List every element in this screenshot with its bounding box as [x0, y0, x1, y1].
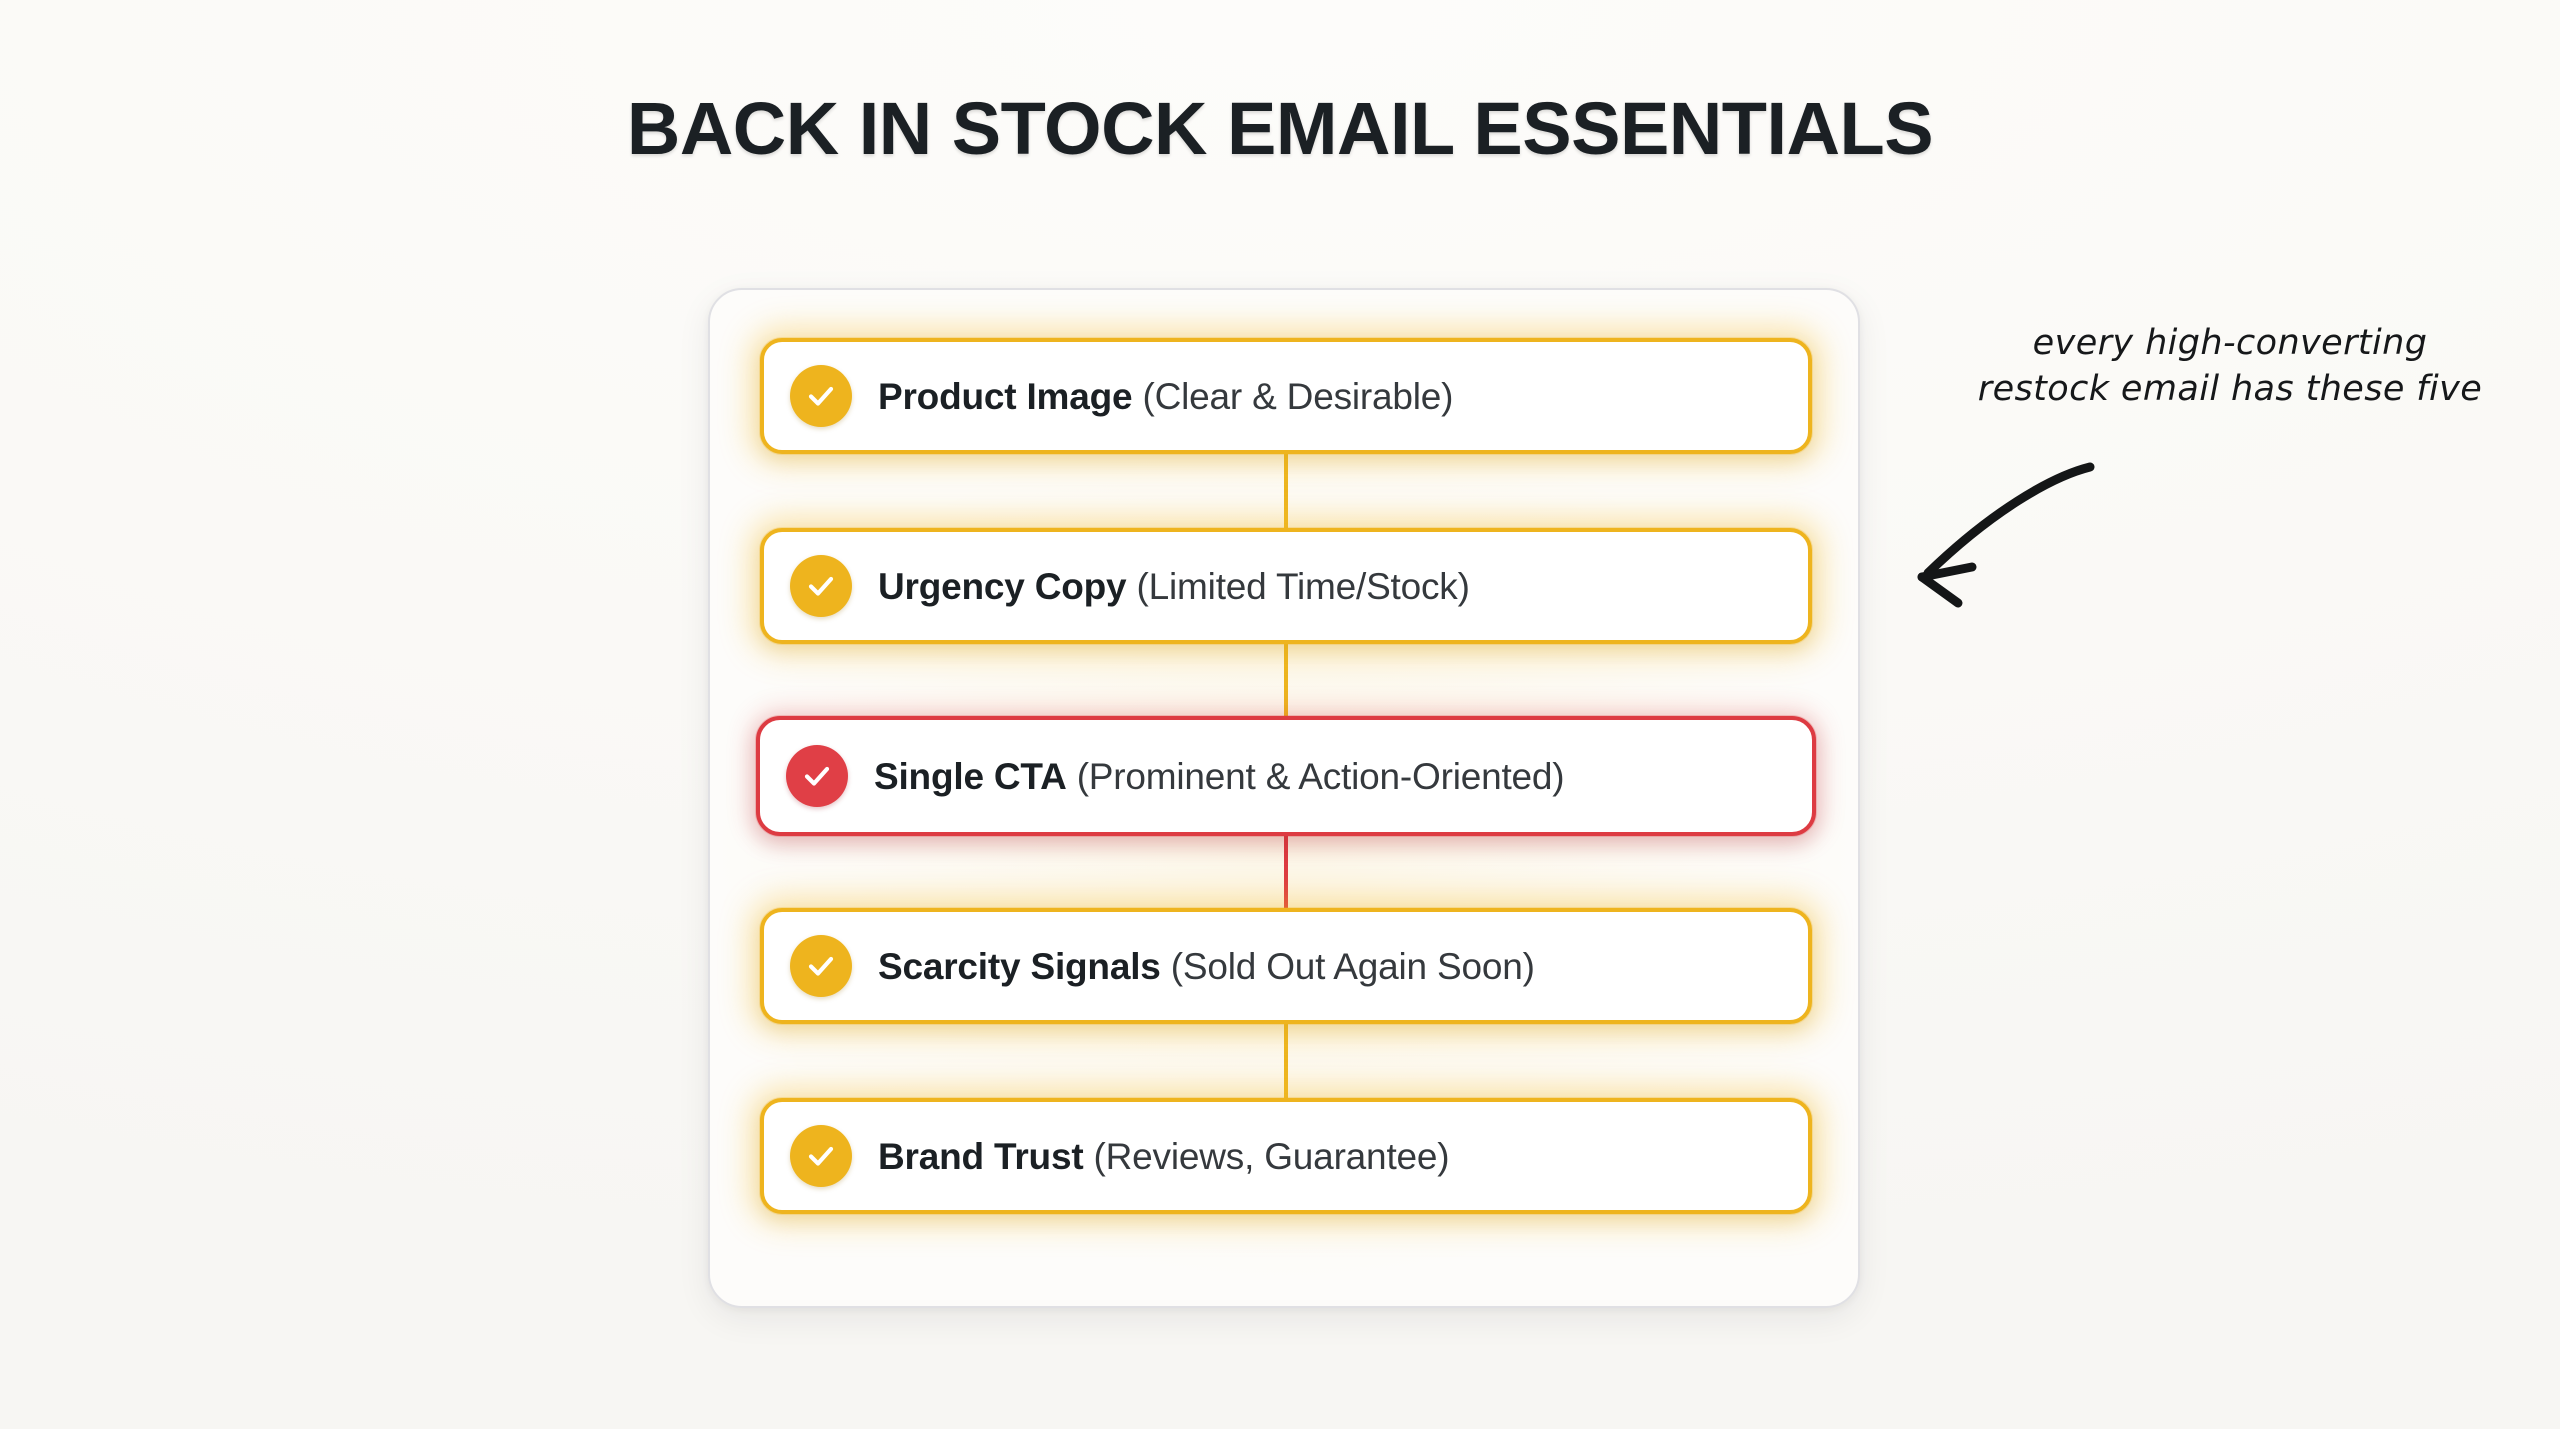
handwritten-annotation: every high-converting restock email has … [1930, 320, 2530, 412]
annotation-line-2: restock email has these five [1930, 366, 2530, 412]
checklist-item-text: Urgency Copy (Limited Time/Stock) [878, 568, 1470, 605]
check-icon [790, 555, 852, 617]
checklist-item-detail: (Sold Out Again Soon) [1171, 946, 1535, 987]
connector-line [1284, 834, 1288, 908]
checklist-item-label: Scarcity Signals [878, 946, 1161, 987]
checklist-item-text: Scarcity Signals (Sold Out Again Soon) [878, 948, 1535, 985]
checklist-item-text: Single CTA (Prominent & Action-Oriented) [874, 758, 1564, 795]
checklist-item-label: Product Image [878, 376, 1132, 417]
checklist-item-detail: (Prominent & Action-Oriented) [1077, 756, 1565, 797]
annotation-line-1: every high-converting [1930, 320, 2530, 366]
checklist-stack: Product Image (Clear & Desirable)Urgency… [760, 338, 1812, 1262]
connector-line [1284, 1024, 1288, 1098]
check-icon [790, 1125, 852, 1187]
checklist-item-text: Brand Trust (Reviews, Guarantee) [878, 1138, 1449, 1175]
page-title: BACK IN STOCK EMAIL ESSENTIALS [0, 86, 2560, 171]
checklist-item-label: Urgency Copy [878, 566, 1126, 607]
checklist-item[interactable]: Scarcity Signals (Sold Out Again Soon) [760, 908, 1812, 1024]
checklist-item-detail: (Limited Time/Stock) [1137, 566, 1470, 607]
curved-arrow-icon [1880, 455, 2180, 625]
check-icon [790, 935, 852, 997]
check-icon [786, 745, 848, 807]
checklist-item-detail: (Clear & Desirable) [1143, 376, 1454, 417]
essentials-panel: Product Image (Clear & Desirable)Urgency… [708, 288, 1860, 1308]
checklist-item[interactable]: Product Image (Clear & Desirable) [760, 338, 1812, 454]
infographic-canvas: BACK IN STOCK EMAIL ESSENTIALS Product I… [0, 0, 2560, 1429]
check-icon [790, 365, 852, 427]
checklist-item-text: Product Image (Clear & Desirable) [878, 378, 1453, 415]
checklist-item-detail: (Reviews, Guarantee) [1094, 1136, 1450, 1177]
checklist-item[interactable]: Brand Trust (Reviews, Guarantee) [760, 1098, 1812, 1214]
checklist-item[interactable]: Single CTA (Prominent & Action-Oriented) [756, 716, 1816, 836]
checklist-item-label: Single CTA [874, 756, 1067, 797]
connector-line [1284, 454, 1288, 528]
connector-line [1284, 644, 1288, 718]
checklist-item-label: Brand Trust [878, 1136, 1083, 1177]
checklist-item[interactable]: Urgency Copy (Limited Time/Stock) [760, 528, 1812, 644]
